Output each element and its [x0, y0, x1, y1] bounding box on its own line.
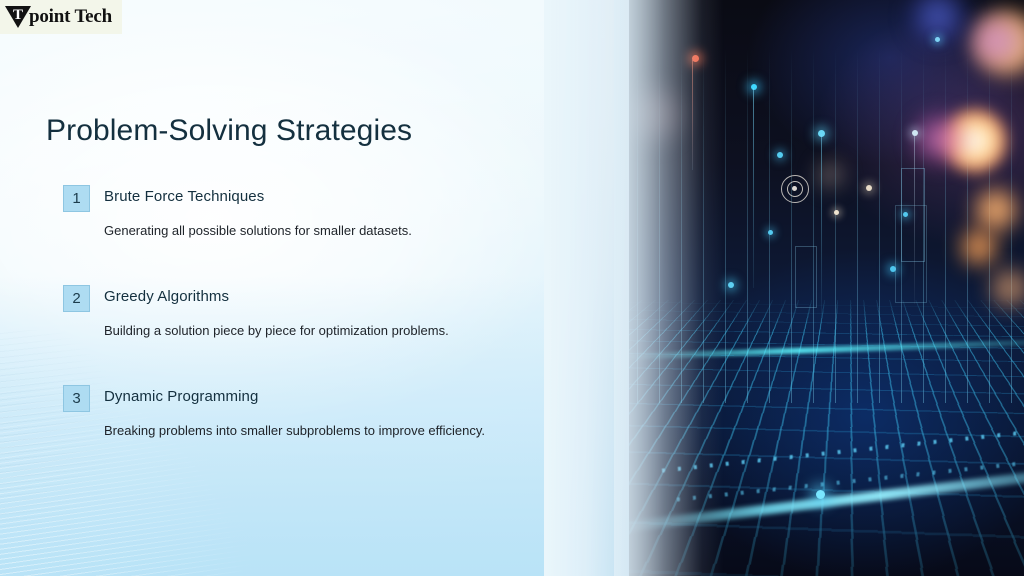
item-number-badge: 1 — [63, 185, 90, 212]
slide: T point Tech Problem-Solving Strategies … — [0, 0, 1024, 576]
circuit-node — [821, 134, 822, 314]
logo-text: point Tech — [29, 6, 112, 28]
item-heading: Greedy Algorithms — [104, 288, 229, 305]
circuit-node — [777, 152, 783, 158]
signal-target-icon-core — [792, 186, 797, 191]
strategy-list: 1 Brute Force Techniques Generating all … — [63, 185, 623, 485]
bokeh-light — [972, 18, 1018, 64]
bokeh-light — [815, 160, 845, 190]
circuit-node — [692, 60, 693, 170]
item-heading: Brute Force Techniques — [104, 188, 264, 205]
circuit-node — [753, 88, 754, 288]
circuit-outline — [795, 246, 817, 308]
circuit-node — [728, 282, 734, 288]
brand-logo[interactable]: T point Tech — [0, 0, 122, 34]
list-item: 1 Brute Force Techniques Generating all … — [63, 185, 623, 285]
item-description: Breaking problems into smaller subproble… — [104, 423, 485, 438]
list-item: 2 Greedy Algorithms Building a solution … — [63, 285, 623, 385]
bokeh-light — [974, 188, 1018, 232]
bokeh-light — [990, 268, 1024, 308]
circuit-node — [751, 84, 757, 90]
item-number-badge: 3 — [63, 385, 90, 412]
list-item: 3 Dynamic Programming Breaking problems … — [63, 385, 623, 485]
circuit-node — [935, 37, 940, 42]
circuit-node — [768, 230, 773, 235]
triangle-t-icon: T — [5, 6, 31, 28]
bokeh-light — [960, 228, 998, 266]
circuit-node — [866, 185, 872, 191]
logo-letter: T — [5, 6, 31, 24]
circuit-node — [816, 490, 825, 499]
page-title: Problem-Solving Strategies — [46, 114, 412, 148]
circuit-outline — [895, 205, 927, 303]
bokeh-light — [912, 112, 966, 166]
circuit-node — [834, 210, 839, 215]
item-number-badge: 2 — [63, 285, 90, 312]
item-description: Generating all possible solutions for sm… — [104, 223, 412, 238]
circuit-node — [912, 130, 918, 136]
abstract-circuit-technology-image — [629, 0, 1024, 576]
item-heading: Dynamic Programming — [104, 388, 258, 405]
circuit-node — [692, 55, 699, 62]
item-description: Building a solution piece by piece for o… — [104, 323, 449, 338]
